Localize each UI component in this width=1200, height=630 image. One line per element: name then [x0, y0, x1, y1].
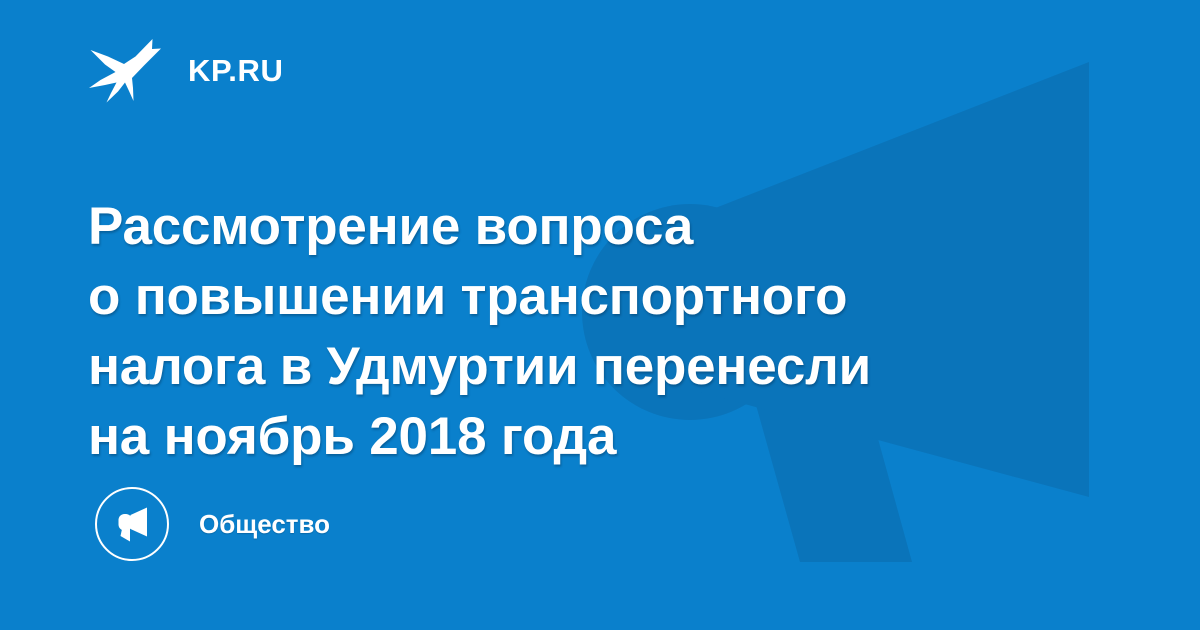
- page-title-line-3: налога в Удмуртии перенесли: [88, 332, 1068, 402]
- megaphone-icon: [111, 503, 153, 545]
- page-title: Рассмотрение вопроса о повышении транспо…: [88, 192, 1068, 472]
- page-title-line-1: Рассмотрение вопроса: [88, 192, 1068, 262]
- brand-logo[interactable]: KP.RU: [88, 36, 283, 104]
- category-badge[interactable]: Общество: [95, 485, 330, 563]
- category-label: Общество: [199, 511, 330, 537]
- page-title-line-4: на ноябрь 2018 года: [88, 402, 1068, 472]
- page-title-line-2: о повышении транспортного: [88, 262, 1068, 332]
- category-icon-circle: [95, 487, 169, 561]
- social-share-card: KP.RU Рассмотрение вопроса о повышении т…: [0, 0, 1200, 630]
- swallow-bird-icon: [88, 36, 162, 104]
- brand-wordmark: KP.RU: [188, 55, 283, 86]
